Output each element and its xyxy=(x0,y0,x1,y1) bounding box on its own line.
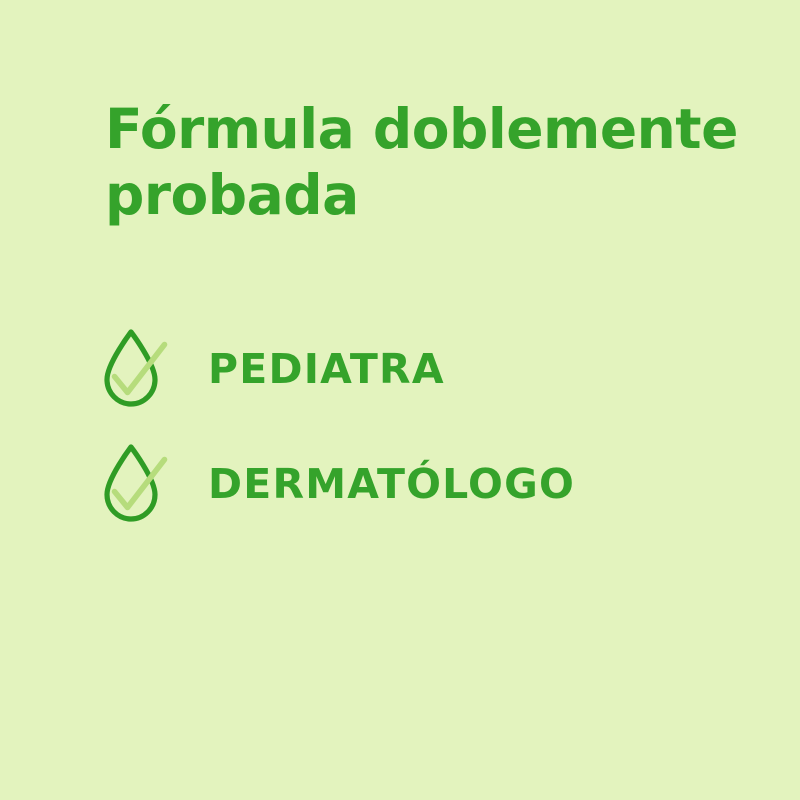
claim-item-pediatra: PEDIATRA xyxy=(100,322,720,417)
testing-claims-card: Fórmula doblemente probada PEDIATRA DERM… xyxy=(0,0,800,800)
droplet-check-icon xyxy=(100,326,174,414)
droplet-check-icon xyxy=(100,441,174,529)
page-title: Fórmula doblemente probada xyxy=(105,96,745,228)
claims-list: PEDIATRA DERMATÓLOGO xyxy=(100,322,720,552)
claim-item-dermatologo: DERMATÓLOGO xyxy=(100,437,720,532)
claim-label: PEDIATRA xyxy=(208,349,445,390)
claim-label: DERMATÓLOGO xyxy=(208,464,575,505)
